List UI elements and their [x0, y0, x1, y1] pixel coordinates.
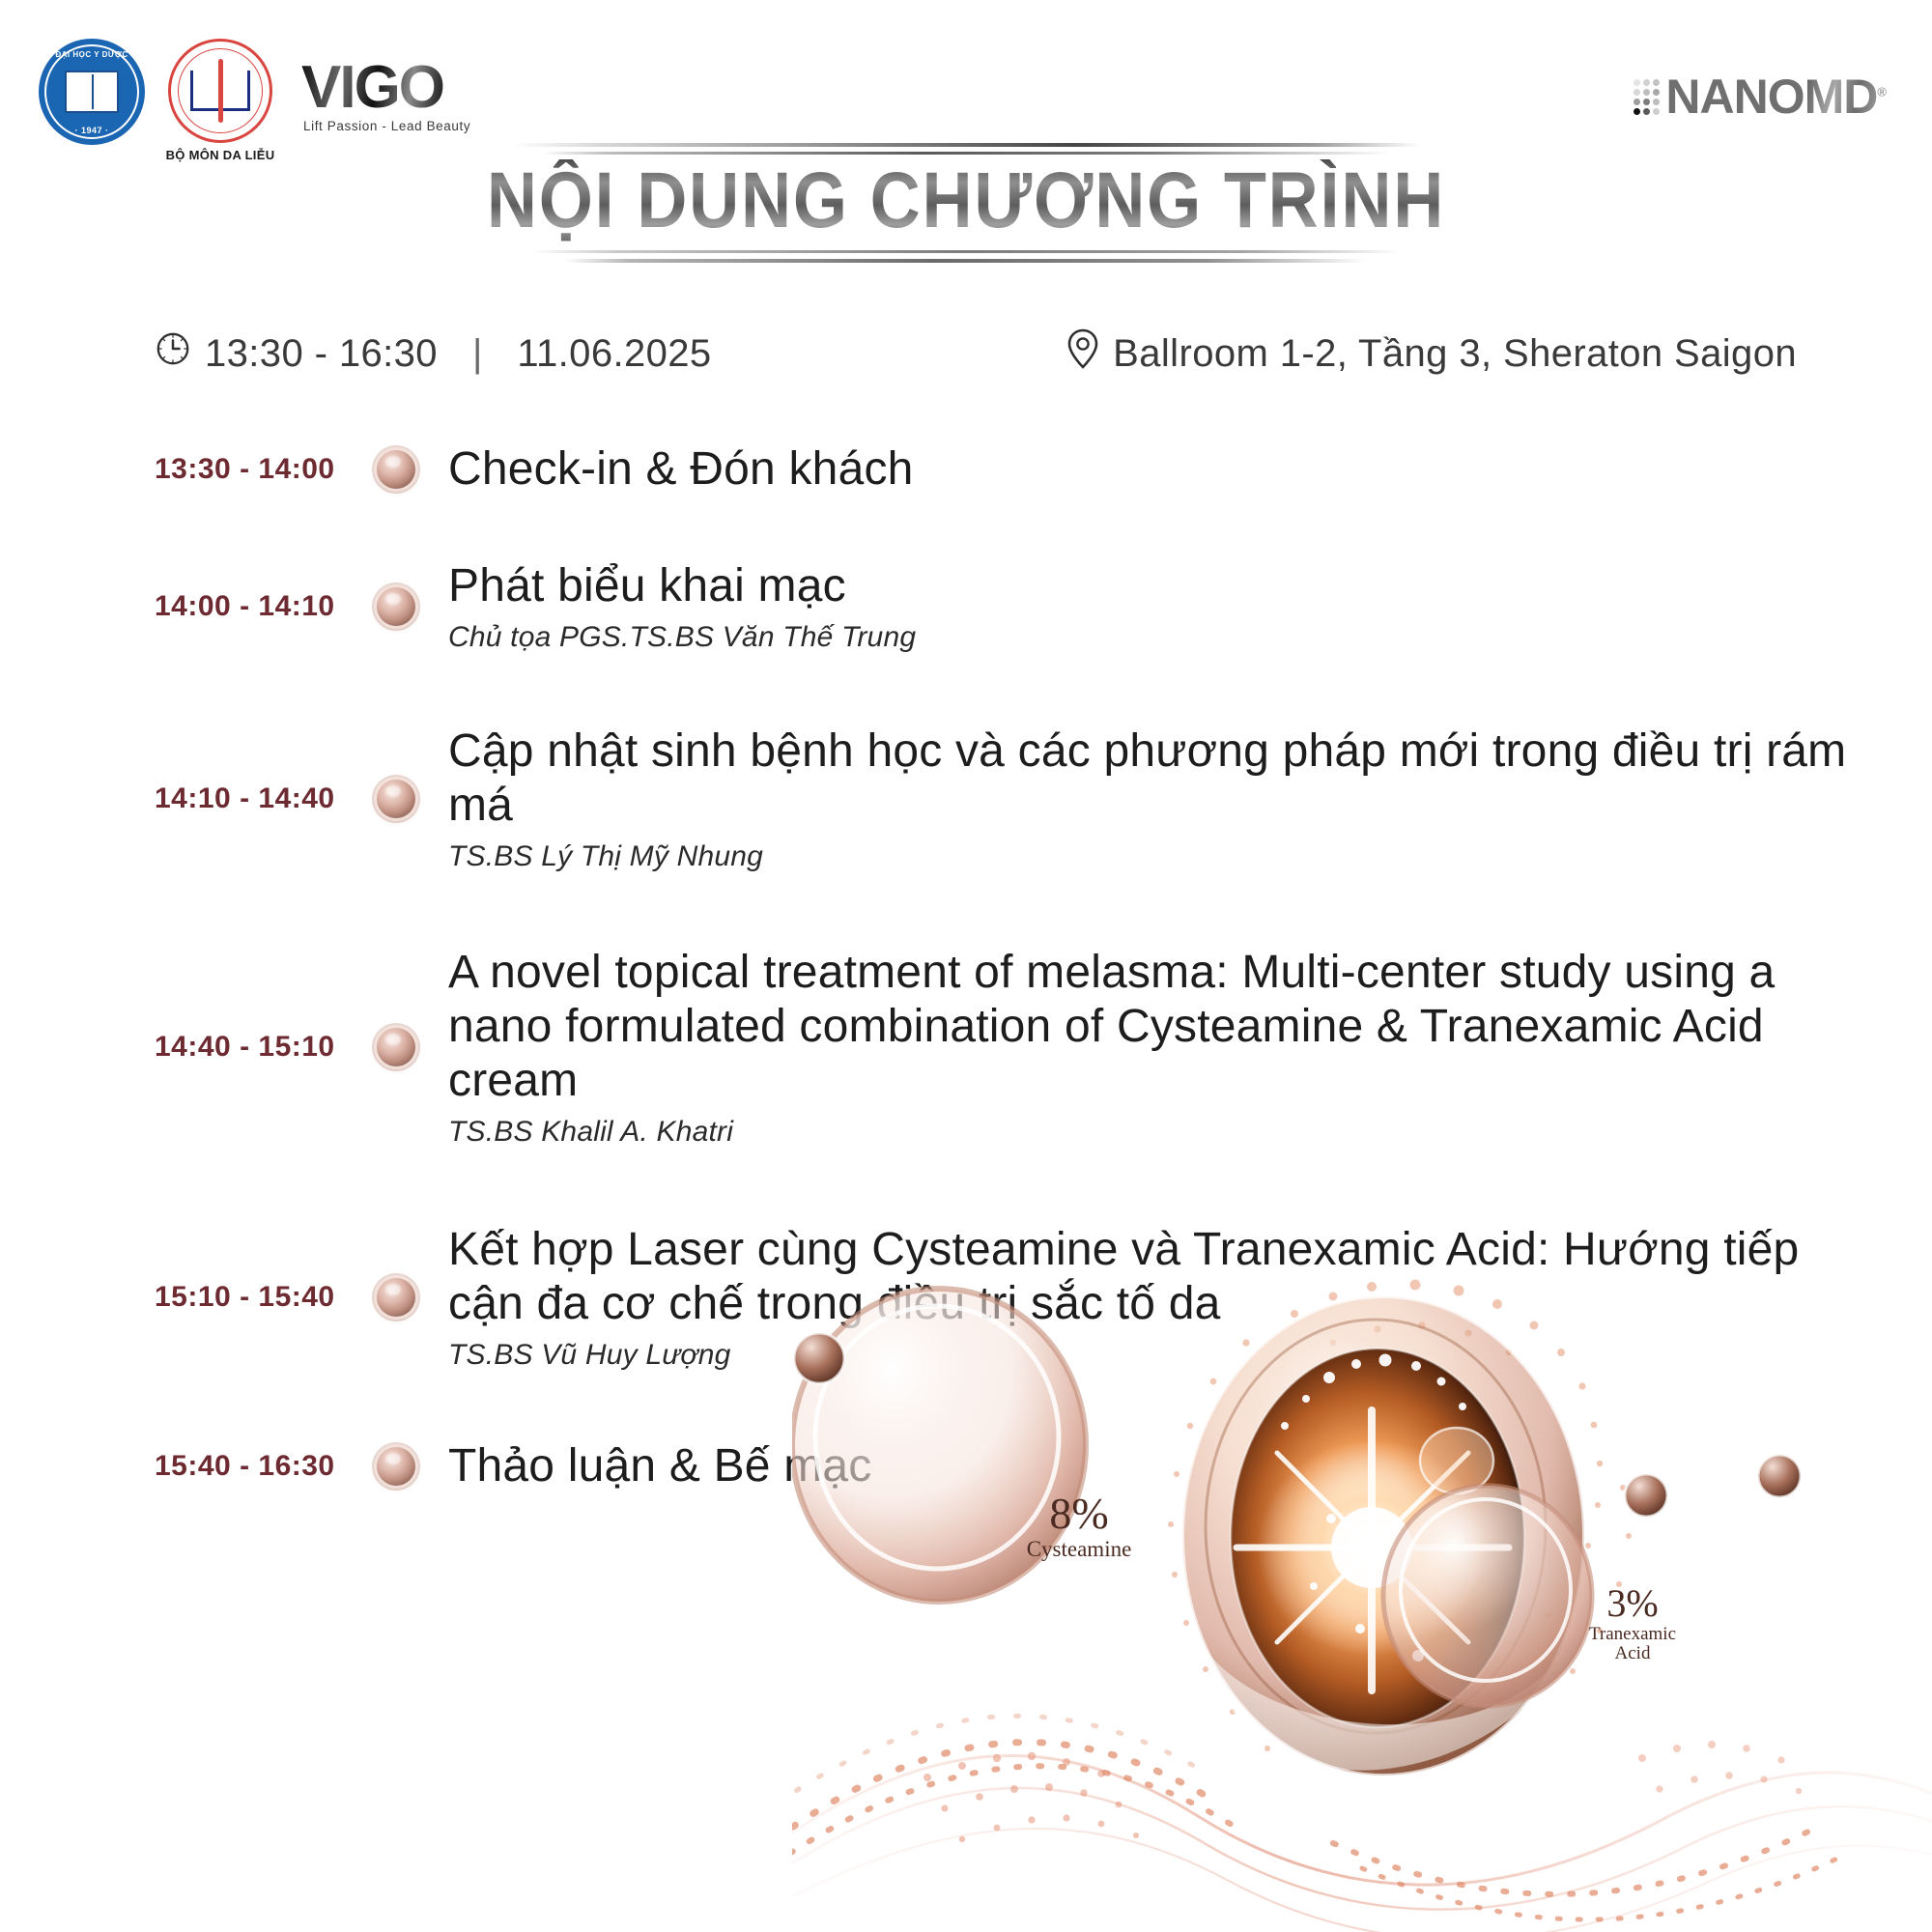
cysteamine-name: Cysteamine [1016, 1538, 1142, 1560]
umc-seal-book-icon [65, 71, 119, 113]
bo-mon-da-lieu-seal-icon [168, 39, 272, 143]
agenda-row[interactable]: 14:10 - 14:40 Cập nhật sinh bệnh học và … [0, 690, 1932, 908]
agenda-speaker: TS.BS Vũ Huy Lượng [448, 1339, 1874, 1372]
agenda-speaker: Chủ tọa PGS.TS.BS Văn Thế Trung [448, 621, 1874, 654]
bubble-bullet-icon [377, 780, 415, 818]
agenda-bullet [377, 587, 448, 626]
rule-line-2 [541, 152, 1391, 155]
tranexamic-name: Tranexamic Acid [1575, 1625, 1690, 1663]
nanomd-logo: NANOMD® [1634, 75, 1886, 119]
agenda-time: 14:40 - 15:10 [155, 1031, 377, 1064]
agenda-speaker: TS.BS Khalil A. Khatri [448, 1116, 1874, 1149]
halftone-field [923, 1752, 1139, 1842]
nanomd-dots-icon [1634, 79, 1660, 119]
agenda-title: Cập nhật sinh bệnh học và các phương phá… [448, 724, 1874, 832]
agenda-row[interactable]: 14:00 - 14:10 Phát biểu khai mạc Chủ tọa… [0, 524, 1932, 690]
agenda-bullet [377, 1278, 448, 1317]
agenda-time: 14:00 - 14:10 [155, 590, 377, 623]
nanomd-nano-text: NANO [1665, 70, 1804, 124]
water-splash [1207, 1652, 1565, 1771]
event-time: 13:30 - 16:30 [205, 332, 438, 376]
agenda-title: Thảo luận & Bế mạc [448, 1439, 1874, 1493]
title-rule-top [512, 143, 1420, 148]
agenda-row[interactable]: 14:40 - 15:10 A novel topical treatment … [0, 908, 1932, 1186]
event-meta-row: 13:30 - 16:30 | 11.06.2025 Ballroom 1-2,… [155, 328, 1797, 379]
tranexamic-percent: 3% [1575, 1584, 1690, 1623]
agenda-row[interactable]: 15:10 - 15:40 Kết hợp Laser cùng Cysteam… [0, 1186, 1932, 1408]
agenda-body: Phát biểu khai mạc Chủ tọa PGS.TS.BS Văn… [448, 559, 1932, 654]
bubble-bullet-icon [377, 1028, 415, 1066]
agenda-title: A novel topical treatment of melasma: Mu… [448, 946, 1874, 1107]
agenda-speaker: TS.BS Lý Thị Mỹ Nhung [448, 840, 1874, 873]
event-time-group: 13:30 - 16:30 | 11.06.2025 [155, 330, 712, 377]
halftone-field-right [1638, 1741, 1802, 1794]
agenda-bullet [377, 450, 448, 489]
agenda-time: 15:40 - 16:30 [155, 1450, 377, 1483]
agenda-bullet [377, 1447, 448, 1486]
bubble-bullet-icon [377, 450, 415, 489]
title-rule-bottom [0, 250, 1932, 263]
dotted-waves [792, 1716, 1845, 1919]
tranexamic-bubble-label: 3% Tranexamic Acid [1575, 1584, 1690, 1663]
event-venue-group: Ballroom 1-2, Tầng 3, Sheraton Saigon [1066, 328, 1797, 379]
agenda-time: 13:30 - 14:00 [155, 453, 377, 486]
vigo-tagline: Lift Passion - Lead Beauty [303, 119, 470, 133]
cysteamine-bubble-label: 8% Cysteamine [1016, 1492, 1142, 1560]
agenda-title: Kết hợp Laser cùng Cysteamine và Tranexa… [448, 1223, 1874, 1330]
nanomd-wordmark: NANOMD® [1665, 75, 1886, 119]
agenda-list: 13:30 - 14:00 Check-in & Đón khách 14:00… [0, 415, 1932, 1524]
agenda-body: A novel topical treatment of melasma: Mu… [448, 946, 1932, 1148]
event-venue: Ballroom 1-2, Tầng 3, Sheraton Saigon [1113, 332, 1797, 376]
umc-hcmc-seal-icon: · ĐẠI HỌC Y DƯỢC · · 1947 · [39, 39, 145, 145]
umc-seal-year: · 1947 · [74, 126, 108, 135]
agenda-bullet [377, 780, 448, 818]
registered-mark: ® [1877, 84, 1886, 99]
umc-seal-top-text: · ĐẠI HỌC Y DƯỢC · [49, 50, 133, 59]
vigo-logo: VIGO Lift Passion - Lead Beauty [301, 39, 470, 133]
rule-line-4 [565, 259, 1367, 263]
agenda-title: Check-in & Đón khách [448, 442, 1874, 497]
agenda-title: Phát biểu khai mạc [448, 559, 1874, 613]
nanomd-md-text: MD [1804, 70, 1878, 124]
page-title: NỘI DUNG CHƯƠNG TRÌNH [116, 159, 1816, 242]
agenda-body: Kết hợp Laser cùng Cysteamine và Tranexa… [448, 1223, 1932, 1371]
clock-icon [155, 330, 191, 377]
rule-line-3 [531, 250, 1401, 253]
asclepius-rod-icon [218, 59, 223, 123]
vigo-wordmark: VIGO [301, 60, 470, 117]
event-date: 11.06.2025 [517, 332, 711, 376]
agenda-body: Check-in & Đón khách [448, 442, 1932, 497]
bubble-bullet-icon [377, 1278, 415, 1317]
meta-separator: | [472, 332, 482, 376]
slide-canvas: · ĐẠI HỌC Y DƯỢC · · 1947 · BỘ MÔN DA LI… [0, 0, 1932, 1932]
map-pin-icon [1066, 328, 1099, 379]
agenda-body: Thảo luận & Bế mạc [448, 1439, 1932, 1493]
bubble-bullet-icon [377, 1447, 415, 1486]
agenda-bullet [377, 1028, 448, 1066]
agenda-time: 15:10 - 15:40 [155, 1281, 377, 1314]
agenda-row[interactable]: 15:40 - 16:30 Thảo luận & Bế mạc [0, 1408, 1932, 1524]
rule-line-1 [512, 143, 1420, 147]
agenda-body: Cập nhật sinh bệnh học và các phương phá… [448, 724, 1932, 872]
agenda-row[interactable]: 13:30 - 14:00 Check-in & Đón khách [0, 415, 1932, 524]
page-title-block: NỘI DUNG CHƯƠNG TRÌNH [0, 143, 1932, 263]
wave-ribbons [792, 1756, 1932, 1932]
cysteamine-percent: 8% [1016, 1492, 1142, 1536]
bubble-bullet-icon [377, 587, 415, 626]
agenda-time: 14:10 - 14:40 [155, 782, 377, 815]
